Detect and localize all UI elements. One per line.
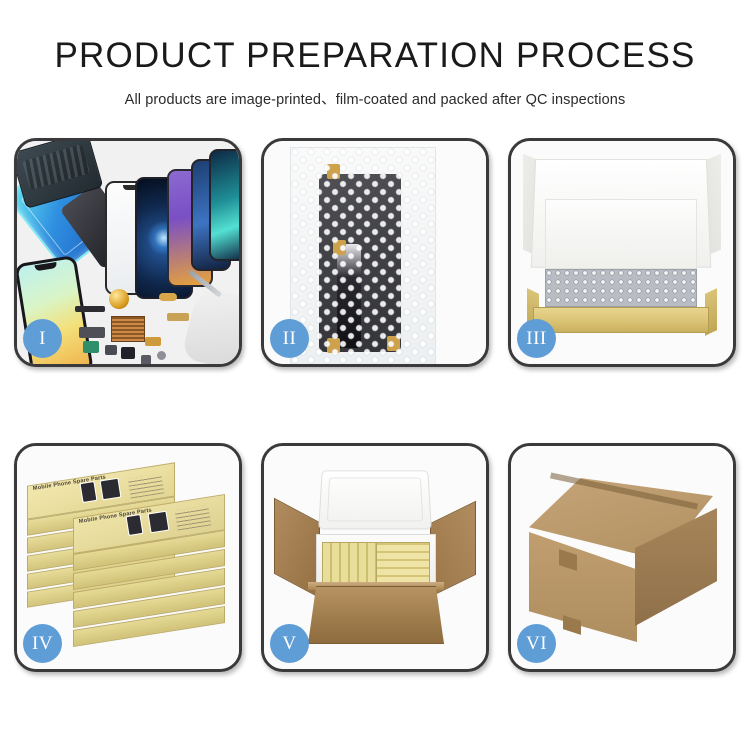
step-badge-1: I: [23, 319, 62, 358]
carton-front-panel: [308, 586, 444, 644]
small-part-icon: [141, 355, 151, 364]
kraft-boxes-inside: [376, 542, 430, 584]
foam-sheet: [545, 199, 697, 269]
hand-icon: [181, 286, 239, 364]
step-panel-raw-parts: I: [14, 138, 242, 367]
step-badge-6: VI: [517, 624, 556, 663]
step-badge-5: V: [270, 624, 309, 663]
process-steps-grid: I II: [14, 138, 736, 672]
box-label-screen-icon: [100, 478, 122, 501]
small-part-icon: [167, 313, 189, 321]
bubble-wrapped-contents: [545, 269, 697, 307]
step-badge-2: II: [270, 319, 309, 358]
small-part-icon: [157, 351, 166, 360]
bubble-texture: [291, 148, 435, 364]
box-label-screen-icon: [80, 481, 98, 503]
small-part-icon: [145, 337, 161, 346]
small-part-icon: [159, 293, 177, 301]
small-part-icon: [83, 341, 99, 353]
camera-module-icon: [109, 289, 129, 309]
kraft-box-front: [533, 307, 709, 333]
small-part-icon: [121, 347, 135, 359]
header: PRODUCT PREPARATION PROCESS All products…: [0, 0, 750, 109]
logic-board-icon: [111, 316, 145, 342]
product-preparation-infographic: PRODUCT PREPARATION PROCESS All products…: [0, 0, 750, 750]
step-badge-3: III: [517, 319, 556, 358]
phone-display-teal-icon: [209, 149, 239, 261]
small-part-icon: [105, 345, 117, 355]
page-title: PRODUCT PREPARATION PROCESS: [0, 38, 750, 75]
foam-lid: [318, 470, 432, 529]
page-subtitle: All products are image-printed、film-coat…: [0, 88, 750, 109]
step-panel-bubble-wrapped: II: [261, 138, 489, 367]
step-panel-sealed-carton: VI: [508, 443, 736, 672]
step-badge-4: IV: [23, 624, 62, 663]
step-panel-inner-box-packing: III: [508, 138, 736, 367]
step-panel-foam-carton-loading: V: [261, 443, 489, 672]
bubble-wrap-bag: [290, 147, 436, 364]
connector-bar-icon: [75, 306, 105, 312]
box-label-screen-icon: [148, 511, 170, 534]
small-part-icon: [79, 327, 105, 338]
box-label-screen-icon: [126, 514, 144, 536]
step-panel-stacked-boxes: Mobile Phone Spare Parts Mobile Phone Sp…: [14, 443, 242, 672]
